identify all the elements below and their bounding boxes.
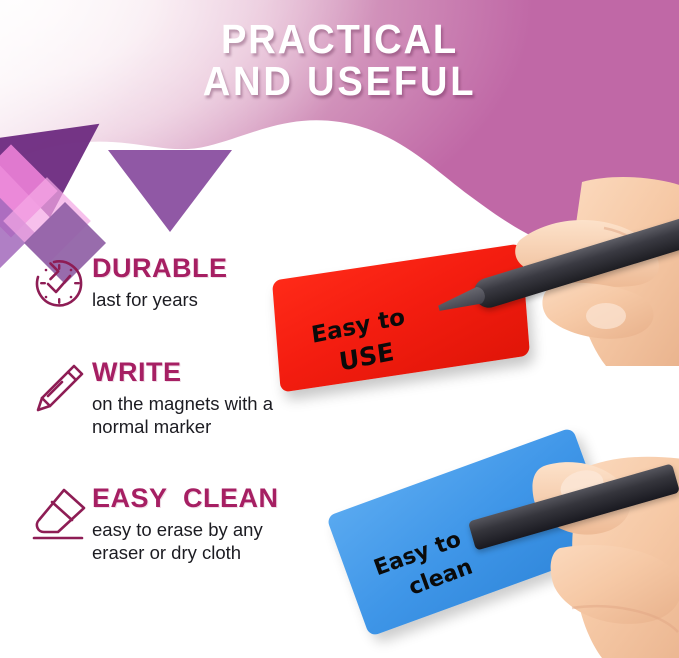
feature-item-write: WRITE on the magnets with a normal marke… xyxy=(26,356,356,438)
eraser-icon xyxy=(26,482,92,542)
feature-text-durable: DURABLE last for years xyxy=(92,252,356,311)
decorative-triangle-mid xyxy=(108,150,232,232)
page-title-line-2: AND USEFUL xyxy=(24,60,655,102)
clock-check-icon xyxy=(26,252,92,312)
feature-desc-write: on the magnets with a normal marker xyxy=(92,392,356,438)
feature-text-write: WRITE on the magnets with a normal marke… xyxy=(92,356,356,438)
feature-desc-easy-clean: easy to erase by any eraser or dry cloth xyxy=(92,518,356,564)
feature-title-write: WRITE xyxy=(92,358,356,387)
feature-text-easy-clean: EASY CLEAN easy to erase by any eraser o… xyxy=(92,482,356,564)
pencil-icon xyxy=(26,356,92,416)
header-title-block: PRACTICAL AND USEFUL xyxy=(0,18,679,102)
feature-desc-durable: last for years xyxy=(92,288,356,311)
page-title-line-1: PRACTICAL xyxy=(24,18,655,60)
feature-list: DURABLE last for years WRITE on the magn xyxy=(26,252,356,598)
feature-title-durable: DURABLE xyxy=(92,254,356,283)
feature-title-easy-clean: EASY CLEAN xyxy=(92,484,356,513)
feature-item-easy-clean: EASY CLEAN easy to erase by any eraser o… xyxy=(26,482,356,564)
product-infographic: PRACTICAL AND USEFUL Easy to USE xyxy=(0,0,679,658)
feature-item-durable: DURABLE last for years xyxy=(26,252,356,312)
